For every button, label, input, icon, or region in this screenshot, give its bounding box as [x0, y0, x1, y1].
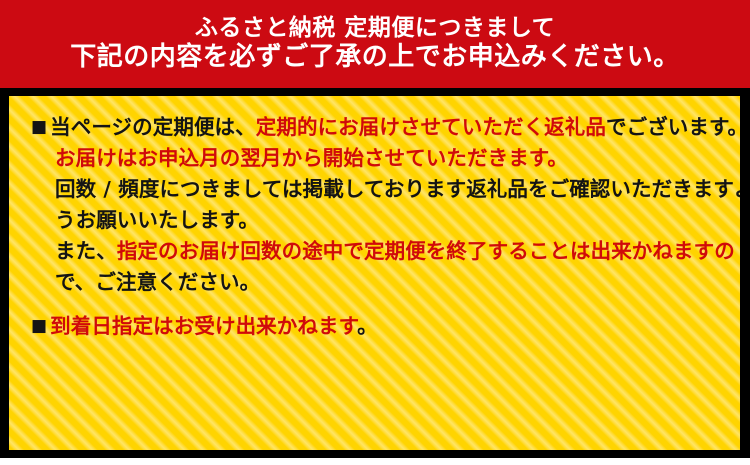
notice-text: また、: [55, 239, 117, 263]
notice-line: お届けはお申込月の翌月から開始させていただきます。: [31, 143, 730, 174]
notice-text: 回数 / 頻度につきましては掲載しております返礼品をご確認いただきますよ: [55, 177, 740, 201]
bullet-square-icon: ■: [31, 318, 47, 335]
notice-text-block: ■当ページの定期便は、定期的にお届けさせていただく返礼品でございます。お届けはお…: [31, 112, 730, 342]
notice-line: ■当ページの定期便は、定期的にお届けさせていただく返礼品でございます。: [31, 112, 730, 143]
notice-text-emphasis: 指定のお届け回数の途中で定期便を終了することは出来かねますの: [117, 239, 735, 263]
bottom-white-strip: [0, 458, 750, 465]
notice-text-emphasis: 定期的にお届けさせていただく返礼品: [256, 115, 606, 139]
notice-text: でございます。: [606, 115, 740, 139]
teikibin-notice-banner: ふるさと納税 定期便につきまして 下記の内容を必ずご了承の上でお申込みください。…: [0, 0, 750, 465]
header-title-line-1: ふるさと納税 定期便につきまして: [195, 16, 555, 42]
banner-header: ふるさと納税 定期便につきまして 下記の内容を必ずご了承の上でお申込みください。: [0, 0, 750, 88]
notice-line: ■到着日指定はお受け出来かねます。: [31, 311, 730, 342]
notice-line: うお願いいたします。: [31, 205, 730, 236]
notice-text: うお願いいたします。: [55, 208, 259, 232]
striped-background: ■当ページの定期便は、定期的にお届けさせていただく返礼品でございます。お届けはお…: [9, 96, 740, 450]
bullet-square-icon: ■: [31, 119, 47, 136]
notice-text: 当ページの定期便は、: [50, 115, 256, 139]
header-title-line-2: 下記の内容を必ずご了承の上でお申込みください。: [70, 43, 680, 72]
notice-line: で、ご注意ください。: [31, 267, 730, 298]
notice-line: また、指定のお届け回数の途中で定期便を終了することは出来かねますの: [31, 236, 730, 267]
notice-text-emphasis: お届けはお申込月の翌月から開始させていただきます。: [55, 146, 568, 170]
notice-text: で、ご注意ください。: [55, 270, 260, 294]
notice-text: 。: [357, 314, 378, 338]
notice-line: 回数 / 頻度につきましては掲載しております返礼品をご確認いただきますよ: [31, 174, 730, 205]
notice-frame: ■当ページの定期便は、定期的にお届けさせていただく返礼品でございます。お届けはお…: [0, 88, 750, 458]
notice-text-emphasis: 到着日指定はお受け出来かねます: [50, 314, 357, 338]
